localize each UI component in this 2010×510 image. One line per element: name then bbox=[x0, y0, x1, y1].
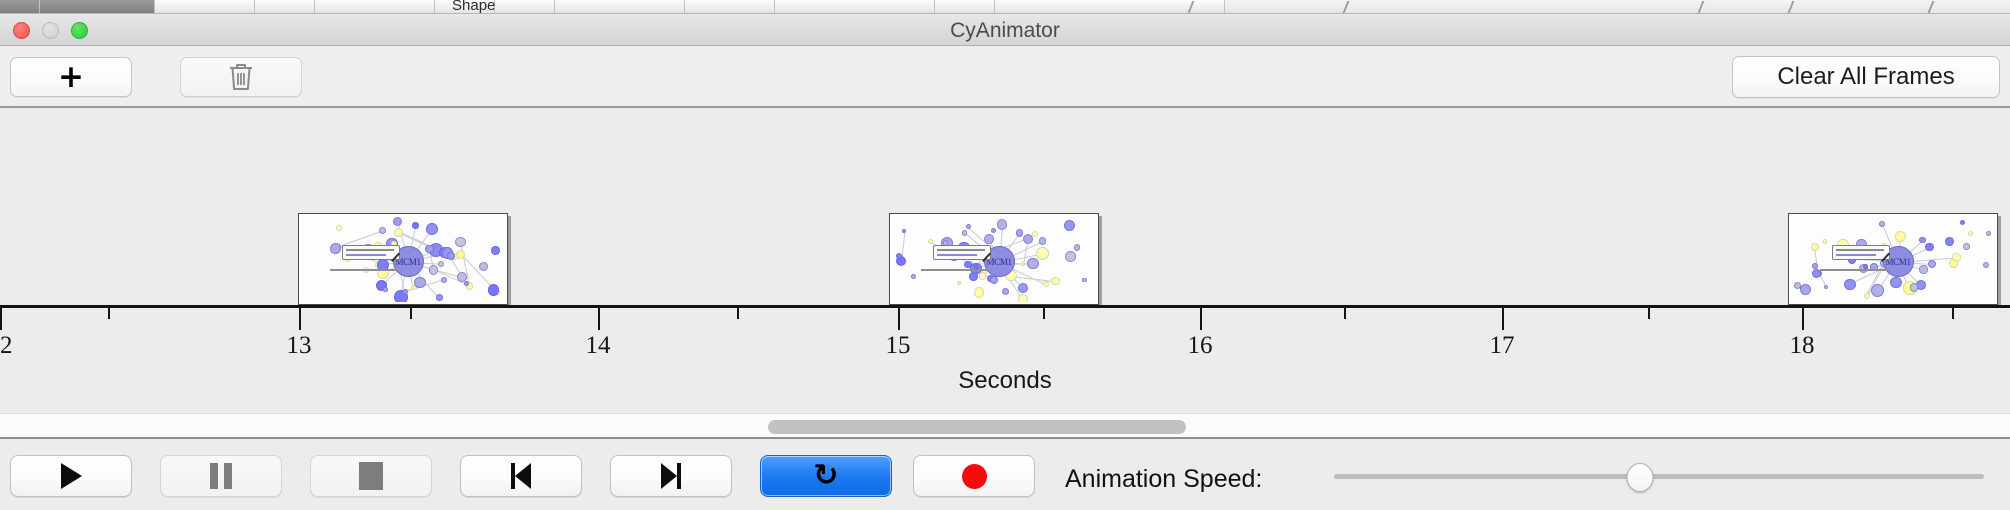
axis-tick-minor bbox=[1043, 308, 1045, 319]
stop-button[interactable] bbox=[310, 455, 432, 497]
network-node bbox=[383, 287, 388, 292]
axis-tick-major bbox=[1502, 308, 1504, 330]
network-node bbox=[1945, 237, 1954, 246]
callout-text-line bbox=[346, 249, 394, 251]
previous-frame-button[interactable] bbox=[460, 455, 582, 497]
network-node bbox=[997, 219, 1007, 229]
axis-tick-major bbox=[898, 308, 900, 330]
add-frame-button[interactable]: + bbox=[10, 57, 132, 97]
axis-title: Seconds bbox=[0, 367, 2010, 395]
network-node bbox=[447, 252, 455, 260]
slider-track bbox=[1334, 474, 1984, 479]
axis-tick-major bbox=[0, 308, 2, 330]
skip-forward-icon bbox=[661, 463, 681, 489]
plus-icon: + bbox=[58, 62, 84, 93]
network-node bbox=[330, 243, 341, 254]
horizontal-scrollbar[interactable] bbox=[0, 413, 2010, 439]
network-node bbox=[1016, 229, 1024, 237]
network-node bbox=[1960, 220, 1965, 225]
network-node bbox=[438, 261, 444, 267]
axis-tick-major bbox=[1200, 308, 1202, 330]
network-caption bbox=[330, 269, 398, 271]
network-node bbox=[393, 217, 402, 226]
network-node bbox=[1879, 221, 1885, 227]
network-node bbox=[1064, 220, 1075, 231]
axis-tick-major bbox=[299, 308, 301, 330]
network-node bbox=[394, 228, 403, 237]
background-toolbar-segment bbox=[555, 0, 685, 14]
network-node bbox=[412, 222, 419, 229]
network-node bbox=[1051, 277, 1060, 286]
network-node bbox=[1018, 283, 1028, 293]
callout-text-line bbox=[937, 254, 977, 256]
network-callout bbox=[933, 245, 991, 260]
network-node bbox=[1871, 284, 1884, 297]
network-node bbox=[1824, 285, 1828, 289]
pause-button[interactable] bbox=[160, 455, 282, 497]
cyanimator-window: Shape CyAnimator + Clear All Frames MCM1… bbox=[0, 0, 2010, 510]
network-node bbox=[1074, 244, 1081, 251]
network-node bbox=[488, 284, 499, 295]
axis-line bbox=[0, 305, 2010, 308]
network-node bbox=[1925, 243, 1934, 252]
axis-tick-minor bbox=[737, 308, 739, 319]
callout-text-line bbox=[1836, 249, 1884, 251]
network-node bbox=[1082, 278, 1087, 283]
clear-all-frames-label: Clear All Frames bbox=[1777, 63, 1954, 91]
network-node bbox=[1890, 277, 1901, 288]
network-caption bbox=[921, 269, 989, 271]
network-node bbox=[974, 287, 984, 297]
window-title: CyAnimator bbox=[0, 19, 2010, 43]
axis-tick-major bbox=[1802, 308, 1804, 330]
network-node bbox=[911, 274, 916, 279]
frame-network-view: MCM1 bbox=[1791, 216, 1995, 302]
frame-toolbar: + Clear All Frames bbox=[0, 46, 2010, 108]
network-node bbox=[1968, 231, 1973, 236]
network-node bbox=[1023, 234, 1033, 244]
callout-text-line bbox=[346, 254, 386, 256]
network-node bbox=[1986, 231, 1991, 236]
background-window-label: Shape bbox=[452, 0, 495, 14]
background-toolbar-segment bbox=[0, 0, 40, 14]
timeline-axis: Seconds 12131415161718 bbox=[0, 305, 2010, 413]
clear-all-frames-button[interactable]: Clear All Frames bbox=[1732, 56, 2000, 98]
trash-icon bbox=[228, 62, 254, 92]
network-node bbox=[491, 246, 499, 254]
network-node bbox=[336, 225, 342, 231]
network-node bbox=[1864, 293, 1870, 299]
loop-icon: ↻ bbox=[813, 461, 838, 491]
axis-tick-label: 16 bbox=[1188, 332, 1213, 360]
network-node bbox=[1039, 237, 1047, 245]
background-window-strip: Shape bbox=[0, 0, 2010, 14]
network-node bbox=[990, 276, 998, 284]
network-node bbox=[991, 228, 997, 234]
record-button[interactable] bbox=[913, 455, 1035, 497]
network-node bbox=[1963, 243, 1970, 250]
background-toolbar-segment bbox=[495, 0, 555, 14]
network-node bbox=[1919, 237, 1925, 243]
axis-tick-label: 13 bbox=[287, 332, 312, 360]
network-node bbox=[1910, 283, 1918, 291]
network-node bbox=[1949, 259, 1958, 268]
network-caption bbox=[1820, 269, 1888, 271]
axis-tick-label: 12 bbox=[0, 332, 13, 360]
background-tick-mark bbox=[1343, 1, 1359, 13]
network-node bbox=[1811, 243, 1819, 251]
network-node bbox=[1027, 258, 1039, 270]
background-tick-mark bbox=[1928, 1, 1944, 13]
network-node bbox=[1021, 262, 1025, 266]
record-icon bbox=[962, 464, 987, 489]
background-toolbar-segment bbox=[775, 0, 935, 14]
frame-network-view: MCM1 bbox=[892, 216, 1096, 302]
loop-button[interactable]: ↻ bbox=[760, 455, 892, 497]
playback-controls: Animation Speed: ↻ bbox=[0, 441, 2010, 510]
background-tick-mark bbox=[1698, 1, 1714, 13]
axis-tick-minor bbox=[1648, 308, 1650, 319]
timeline-frame-thumbnail[interactable]: MCM1 bbox=[889, 213, 1099, 305]
animation-speed-label: Animation Speed: bbox=[1065, 465, 1262, 494]
stop-icon bbox=[359, 462, 383, 490]
network-node bbox=[1018, 294, 1028, 302]
background-toolbar-segment bbox=[935, 0, 995, 14]
network-node bbox=[1844, 279, 1855, 290]
network-node bbox=[1919, 265, 1927, 273]
background-toolbar-segment bbox=[40, 0, 155, 14]
background-toolbar-segment bbox=[255, 0, 315, 14]
network-edge bbox=[1011, 276, 1056, 282]
title-bar: CyAnimator bbox=[0, 14, 2010, 46]
network-node bbox=[962, 230, 968, 236]
network-node bbox=[957, 281, 961, 285]
network-node bbox=[455, 237, 465, 247]
axis-tick-minor bbox=[1344, 308, 1346, 319]
background-toolbar-segment bbox=[315, 0, 435, 14]
axis-tick-minor bbox=[410, 308, 412, 319]
axis-tick-minor bbox=[1952, 308, 1954, 319]
axis-tick-minor bbox=[108, 308, 110, 319]
background-tick-mark bbox=[1788, 1, 1804, 13]
delete-frame-button[interactable] bbox=[180, 57, 302, 97]
axis-tick-major bbox=[598, 308, 600, 330]
network-node bbox=[414, 277, 425, 288]
network-node bbox=[1928, 260, 1936, 268]
network-callout bbox=[342, 245, 400, 260]
timeline-frame-thumbnail[interactable]: MCM1 bbox=[1788, 213, 1998, 305]
network-node bbox=[984, 234, 994, 244]
network-node bbox=[403, 289, 408, 294]
timeline-frame-thumbnail[interactable]: MCM1 bbox=[298, 213, 508, 305]
network-node bbox=[979, 272, 987, 280]
network-node bbox=[1895, 231, 1906, 242]
play-icon bbox=[61, 463, 82, 489]
axis-tick-label: 15 bbox=[886, 332, 911, 360]
callout-text-line bbox=[1836, 254, 1876, 256]
axis-tick-label: 17 bbox=[1490, 332, 1515, 360]
slider-thumb[interactable] bbox=[1626, 463, 1653, 492]
network-node bbox=[1002, 288, 1010, 296]
frame-network-view: MCM1 bbox=[301, 216, 505, 302]
animation-speed-slider[interactable] bbox=[1334, 455, 1984, 497]
skip-back-icon bbox=[511, 463, 531, 489]
network-node bbox=[436, 294, 443, 301]
play-button[interactable] bbox=[10, 455, 132, 497]
background-toolbar-segment bbox=[155, 0, 255, 14]
network-node bbox=[1036, 247, 1049, 260]
network-callout bbox=[1832, 245, 1890, 260]
background-toolbar bbox=[0, 0, 2010, 14]
network-node bbox=[479, 262, 488, 271]
axis-tick-label: 14 bbox=[586, 332, 611, 360]
callout-text-line bbox=[937, 249, 985, 251]
background-toolbar-segment bbox=[685, 0, 775, 14]
network-node bbox=[1823, 239, 1827, 243]
scrollbar-thumb[interactable] bbox=[768, 420, 1186, 434]
network-node bbox=[1800, 284, 1811, 295]
network-node bbox=[902, 229, 906, 233]
network-node bbox=[426, 223, 438, 235]
network-node bbox=[1065, 251, 1076, 262]
network-node bbox=[379, 227, 387, 235]
network-node bbox=[1983, 262, 1989, 268]
network-node bbox=[429, 265, 438, 274]
network-node bbox=[1043, 281, 1049, 287]
network-node bbox=[441, 277, 447, 283]
next-frame-button[interactable] bbox=[610, 455, 732, 497]
axis-tick-label: 18 bbox=[1790, 332, 1815, 360]
pause-icon bbox=[210, 463, 232, 489]
